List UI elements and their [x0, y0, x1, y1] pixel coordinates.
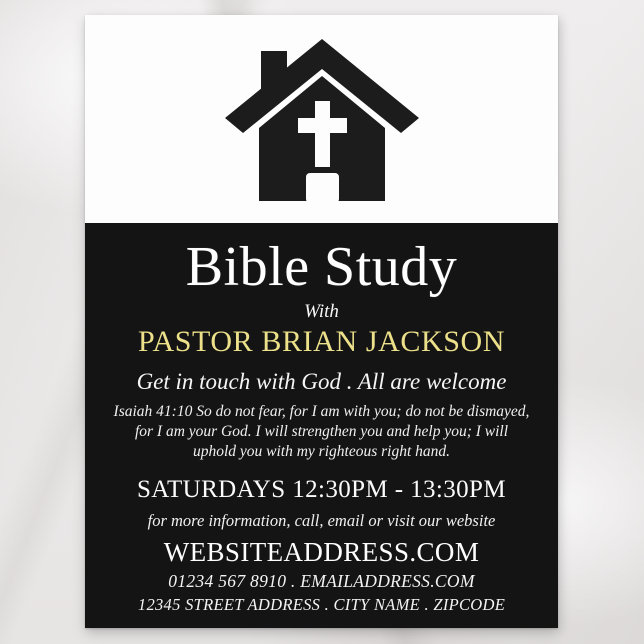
street-address: 12345 STREET ADDRESS . CITY NAME . ZIPCO…: [99, 595, 544, 615]
more-information-text: for more information, call, email or vis…: [99, 511, 544, 531]
flyer-scene: Bible Study With PASTOR BRIAN JACKSON Ge…: [0, 0, 644, 644]
tagline: Get in touch with God . All are welcome: [99, 368, 544, 395]
website-address: WEBSITEADDRESS.COM: [99, 537, 544, 567]
phone-and-email: 01234 567 8910 . EMAILADDRESS.COM: [99, 571, 544, 592]
schedule-text: SATURDAYS 12:30PM - 13:30PM: [99, 476, 544, 504]
flyer-title: Bible Study: [99, 223, 544, 296]
flyer-content-panel: Bible Study With PASTOR BRIAN JACKSON Ge…: [85, 223, 558, 628]
flyer-document: Bible Study With PASTOR BRIAN JACKSON Ge…: [85, 15, 558, 628]
with-label: With: [99, 302, 544, 323]
flyer-header-band: [85, 15, 558, 223]
presenter-name: PASTOR BRIAN JACKSON: [99, 325, 544, 359]
scripture-verse: Isaiah 41:10 So do not fear, for I am wi…: [112, 402, 532, 462]
church-house-cross-icon: [222, 29, 422, 209]
